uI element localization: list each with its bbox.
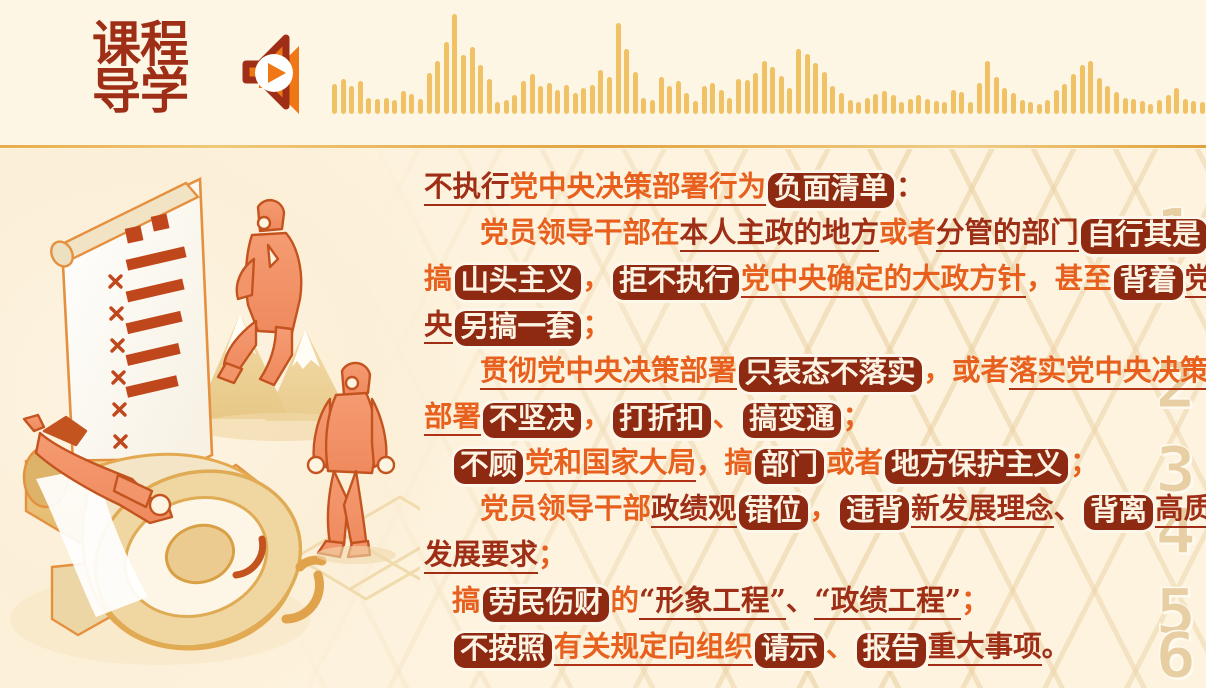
- highlight-badge: 不顾: [454, 449, 523, 484]
- waveform-bar: [401, 91, 406, 114]
- clause-line-6: 不顾党和国家大局，搞部门或者地方保护主义；: [424, 439, 1140, 485]
- text-run: ；: [538, 537, 567, 571]
- text-run: 党和国家大局: [525, 445, 696, 482]
- text-run: 的: [611, 583, 640, 617]
- waveform-bar: [977, 83, 982, 114]
- waveform-bar: [616, 23, 621, 114]
- waveform-bar: [916, 95, 921, 114]
- waveform-bar: [444, 42, 449, 114]
- clause-line-3: 央另搞一套；: [424, 301, 1140, 347]
- course-guide-logo: 课程 导学: [92, 22, 210, 124]
- text-run: ；: [1070, 445, 1099, 479]
- highlight-badge: 山头主义: [455, 265, 581, 300]
- waveform-bar: [839, 93, 844, 114]
- waveform-bar: [1105, 86, 1110, 114]
- highlight-badge: 背离: [1084, 495, 1153, 530]
- waveform-bar: [727, 98, 732, 114]
- text-run: ：: [896, 169, 925, 203]
- waveform-bar: [959, 92, 964, 114]
- waveform-bar: [573, 93, 578, 114]
- waveform-bar: [882, 91, 887, 114]
- text-run: 落实党中央决策: [1009, 353, 1206, 390]
- waveform-bar: [1166, 95, 1171, 114]
- waveform-bar: [891, 95, 896, 114]
- waveform-bar: [470, 47, 475, 114]
- waveform-bar: [495, 102, 500, 114]
- waveform-bar: [684, 93, 689, 114]
- waveform-bar: [650, 100, 655, 114]
- isometric-illustration: [0, 149, 420, 688]
- waveform-bar: [873, 94, 878, 114]
- highlight-badge: 劳民伤财: [483, 587, 609, 622]
- clause-line-10: 不按照有关规定向组织请示、报告重大事项。: [424, 623, 1140, 669]
- waveform-bar: [1028, 102, 1033, 114]
- waveform-bar: [770, 67, 775, 114]
- text-run: ，: [810, 491, 839, 525]
- waveform-bar: [702, 86, 707, 114]
- waveform-bar: [676, 81, 681, 114]
- waveform-bar: [925, 99, 930, 114]
- highlight-badge: 不坚决: [483, 403, 581, 438]
- waveform-bar: [659, 77, 664, 114]
- audio-waveform: [332, 6, 1198, 114]
- waveform-bar: [504, 100, 509, 114]
- text-run: 不执行: [424, 169, 510, 206]
- text-run: 、: [1054, 491, 1083, 525]
- waveform-bar: [830, 86, 835, 114]
- content-area: 123456: [0, 149, 1206, 688]
- waveform-bar: [934, 101, 939, 114]
- highlight-badge: 自行其是: [1081, 219, 1206, 254]
- waveform-bar: [667, 86, 672, 114]
- text-run: 发展要求: [424, 537, 538, 574]
- text-run: 、: [826, 629, 855, 663]
- waveform-bar: [607, 77, 612, 114]
- clause-line-5: 部署不坚决，打折扣、搞变通；: [424, 393, 1140, 439]
- waveform-bar: [796, 49, 801, 114]
- clause-line-2: 搞山头主义，拒不执行党中央确定的大政方针，甚至背着党中: [424, 255, 1140, 301]
- waveform-bar: [1157, 100, 1162, 114]
- waveform-bar: [745, 80, 750, 114]
- highlight-badge: 报告: [857, 633, 926, 668]
- waveform-bar: [848, 100, 853, 114]
- waveform-bar: [719, 90, 724, 114]
- waveform-bar: [951, 90, 956, 114]
- text-run: 本人主政的地方: [680, 215, 880, 252]
- waveform-bar: [736, 79, 741, 114]
- waveform-bar: [538, 86, 543, 114]
- waveform-bar: [968, 102, 973, 114]
- waveform-bar: [1054, 90, 1059, 114]
- text-run: 搞: [452, 583, 481, 617]
- waveform-bar: [512, 95, 517, 114]
- waveform-bar: [1183, 99, 1188, 114]
- waveform-bar: [461, 55, 466, 114]
- text-run: “形象工程”: [639, 583, 786, 620]
- waveform-bar: [865, 98, 870, 114]
- waveform-bar: [418, 99, 423, 114]
- waveform-bar: [452, 14, 457, 114]
- waveform-bar: [624, 49, 629, 114]
- text-run: 党员领导干部: [480, 491, 651, 525]
- text-run: 有关规定向组织: [554, 629, 754, 666]
- waveform-bar: [435, 61, 440, 114]
- waveform-bar: [1071, 74, 1076, 114]
- waveform-bar: [1191, 101, 1196, 114]
- waveform-bar: [787, 88, 792, 114]
- highlight-badge: 不按照: [454, 633, 552, 668]
- clause-line-8: 发展要求；: [424, 531, 1140, 577]
- waveform-bar: [908, 99, 913, 114]
- speaker-play-icon: [228, 26, 324, 122]
- waveform-bar: [564, 85, 569, 114]
- logo-line-1: 课程: [92, 22, 210, 67]
- waveform-bar: [856, 102, 861, 114]
- text-run: 、: [713, 399, 742, 433]
- text-run: ；: [583, 307, 612, 341]
- waveform-bar: [598, 70, 603, 114]
- text-run: “政绩工程”: [814, 583, 961, 620]
- waveform-bar: [942, 102, 947, 114]
- section-numeral-6: 6: [1155, 625, 1195, 687]
- waveform-bar: [427, 73, 432, 114]
- waveform-bar: [1097, 78, 1102, 114]
- waveform-bar: [1020, 100, 1025, 114]
- highlight-badge: 只表态不落实: [739, 357, 922, 392]
- text-run: 或者: [826, 445, 883, 479]
- text-run: 部署: [424, 399, 481, 436]
- waveform-bar: [375, 99, 380, 114]
- text-run: ，: [583, 261, 612, 295]
- negative-list-text: 不执行党中央决策部署行为负面清单：党员领导干部在本人主政的地方或者分管的部门自行…: [424, 163, 1140, 669]
- highlight-badge: 搞变通: [743, 403, 841, 438]
- waveform-bar: [1080, 65, 1085, 114]
- waveform-bar: [899, 102, 904, 114]
- waveform-bar: [1140, 101, 1145, 114]
- text-run: 党员领导干部在: [480, 215, 680, 249]
- waveform-bar: [985, 61, 990, 114]
- clause-line-1: 党员领导干部在本人主政的地方或者分管的部门自行其是，: [424, 209, 1140, 255]
- waveform-bar: [779, 76, 784, 114]
- text-run: ，甚至: [1026, 261, 1112, 295]
- waveform-bar: [590, 85, 595, 114]
- waveform-bar: [1011, 93, 1016, 114]
- text-run: 。: [1042, 629, 1071, 663]
- waveform-bar: [521, 81, 526, 114]
- text-run: 、: [786, 583, 815, 617]
- waveform-bar: [762, 61, 767, 114]
- waveform-bar: [641, 98, 646, 114]
- waveform-bar: [813, 63, 818, 114]
- waveform-bar: [530, 74, 535, 114]
- header-divider: [0, 145, 1206, 148]
- highlight-badge: 违背: [840, 495, 909, 530]
- text-run: 党中: [1185, 261, 1206, 298]
- clause-line-4: 贯彻党中央决策部署只表态不落实，或者落实党中央决策: [424, 347, 1140, 393]
- header-bar: 课程 导学: [0, 0, 1206, 148]
- waveform-bar: [581, 88, 586, 114]
- text-run: ，搞: [696, 445, 753, 479]
- waveform-bar: [1174, 88, 1179, 114]
- text-run: 重大事项: [928, 629, 1042, 666]
- text-run: 搞: [424, 261, 453, 295]
- waveform-bar: [341, 79, 346, 114]
- waveform-bar: [547, 83, 552, 114]
- waveform-bar: [1123, 98, 1128, 114]
- highlight-badge: 错位: [739, 495, 808, 530]
- text-run: 党中央确定的大政方针: [741, 261, 1026, 298]
- highlight-badge: 背着: [1114, 265, 1183, 300]
- text-run: ；: [961, 583, 990, 617]
- waveform-bar: [392, 100, 397, 114]
- waveform-bar: [1037, 104, 1042, 114]
- text-run: 央: [424, 307, 453, 344]
- waveform-bar: [633, 72, 638, 114]
- waveform-bar: [693, 101, 698, 114]
- waveform-bar: [1062, 84, 1067, 114]
- highlight-badge: 拒不执行: [613, 265, 739, 300]
- waveform-bar: [366, 98, 371, 114]
- waveform-bar: [822, 72, 827, 114]
- waveform-bar: [478, 65, 483, 114]
- text-run: 分管的部门: [936, 215, 1079, 252]
- text-run: 高质量: [1155, 491, 1206, 528]
- waveform-bar: [805, 54, 810, 114]
- text-run: ，或者: [924, 353, 1010, 387]
- waveform-bar: [384, 98, 389, 114]
- highlight-badge: 另搞一套: [455, 311, 581, 346]
- waveform-bar: [994, 77, 999, 114]
- text-run: 新发展理念: [911, 491, 1054, 528]
- waveform-bar: [555, 90, 560, 114]
- waveform-bar: [753, 73, 758, 114]
- text-run: 党中央决策部署行为: [510, 169, 767, 206]
- highlight-badge: 打折扣: [613, 403, 711, 438]
- waveform-bar: [1002, 88, 1007, 114]
- highlight-badge: 部门: [755, 449, 824, 484]
- waveform-bar: [1200, 102, 1205, 114]
- text-run: 或者: [879, 215, 936, 249]
- text-run: 贯彻党中央决策部署: [480, 353, 737, 390]
- waveform-bar: [1088, 61, 1093, 114]
- waveform-bar: [487, 79, 492, 114]
- waveform-bar: [358, 81, 363, 114]
- waveform-bar: [409, 94, 414, 114]
- waveform-bar: [1148, 104, 1153, 114]
- poster-canvas: 课程 导学 123456: [0, 0, 1206, 688]
- highlight-badge: 负面清单: [768, 173, 894, 208]
- waveform-bar: [1131, 99, 1136, 114]
- text-run: 政绩观: [651, 491, 737, 528]
- text-run: ，: [583, 399, 612, 433]
- clause-line-9: 搞劳民伤财的“形象工程”、“政绩工程”；: [424, 577, 1140, 623]
- clause-line-7: 党员领导干部政绩观错位，违背新发展理念、背离高质量: [424, 485, 1140, 531]
- waveform-bar: [349, 86, 354, 114]
- highlight-badge: 请示: [755, 633, 824, 668]
- text-run: ；: [843, 399, 872, 433]
- waveform-bar: [1114, 92, 1119, 114]
- logo-line-2: 导学: [92, 69, 210, 114]
- waveform-bar: [332, 84, 337, 114]
- negative-list-title: 不执行党中央决策部署行为负面清单：: [424, 163, 1140, 209]
- highlight-badge: 地方保护主义: [885, 449, 1068, 484]
- waveform-bar: [710, 83, 715, 114]
- waveform-bar: [1045, 100, 1050, 114]
